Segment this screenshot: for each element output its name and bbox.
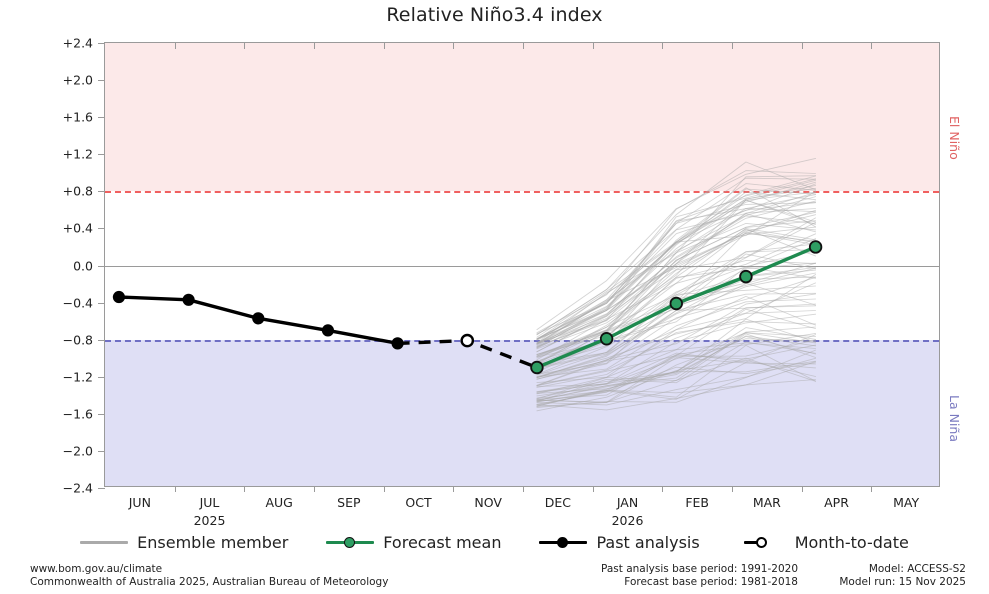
x-tick-label-may: MAY <box>893 495 919 510</box>
forecast-base-period: Forecast base period: 1981-2018 <box>583 576 798 589</box>
ensemble-member-line <box>537 363 816 402</box>
page-title: Relative Niño3.4 index <box>0 4 989 26</box>
past-analysis-marker <box>322 325 333 336</box>
ensemble-member-line <box>537 200 816 349</box>
past-analysis-marker <box>183 294 194 305</box>
legend-swatch-forecast-mean <box>326 534 374 550</box>
y-tick-label: +0.8 <box>63 184 93 199</box>
y-tick <box>98 451 105 452</box>
y-tick <box>98 228 105 229</box>
x-tick-label-jul: JUL <box>200 495 220 510</box>
y-tick-label: +2.4 <box>63 36 93 51</box>
x-year-label: 2026 <box>612 513 644 528</box>
x-tick-label-nov: NOV <box>474 495 502 510</box>
past-analysis-marker <box>113 291 124 302</box>
y-tick-label: −2.4 <box>63 481 93 496</box>
y-tick-label: +0.4 <box>63 221 93 236</box>
y-tick-label: +1.6 <box>63 110 93 125</box>
y-tick-label: −2.0 <box>63 443 93 458</box>
footer-copyright: Commonwealth of Australia 2025, Australi… <box>30 576 388 589</box>
x-tick-label-aug: AUG <box>265 495 292 510</box>
past-analysis-line <box>113 291 537 367</box>
legend-swatch-ensemble-member <box>80 534 128 550</box>
x-year-label: 2025 <box>194 513 226 528</box>
y-tick <box>98 303 105 304</box>
x-tick-label-feb: FEB <box>685 495 709 510</box>
chart-legend: Ensemble memberForecast meanPast analysi… <box>0 527 989 557</box>
el-nino-side-label: El Niño <box>947 116 962 160</box>
y-tick-label: +2.0 <box>63 73 93 88</box>
forecast-mean-marker <box>531 362 543 374</box>
y-tick-label: −0.8 <box>63 332 93 347</box>
legend-label-past-analysis: Past analysis <box>596 533 699 552</box>
x-tick-label-apr: APR <box>824 495 849 510</box>
plot-area: +2.4+2.0+1.6+1.2+0.8+0.40.0−0.4−0.8−1.2−… <box>104 42 940 487</box>
y-tick <box>98 191 105 192</box>
x-tick-label-jan: JAN <box>617 495 638 510</box>
y-tick <box>98 488 105 489</box>
y-tick-label: +1.2 <box>63 147 93 162</box>
y-tick-label: −1.2 <box>63 369 93 384</box>
forecast-mean-marker <box>670 298 682 310</box>
y-tick <box>98 414 105 415</box>
y-tick <box>98 154 105 155</box>
la-nina-side-label: La Niña <box>947 395 962 442</box>
month-to-date-marker <box>462 335 473 346</box>
legend-label-month-to-date: Month-to-date <box>795 533 909 552</box>
footer-url: www.bom.gov.au/climate <box>30 563 388 576</box>
y-tick <box>98 80 105 81</box>
y-tick <box>98 340 105 341</box>
legend-item-past-analysis[interactable]: Past analysis <box>539 533 699 552</box>
y-tick-label: −0.4 <box>63 295 93 310</box>
past-base-period: Past analysis base period: 1991-2020 <box>583 563 798 576</box>
x-tick-label-dec: DEC <box>545 495 571 510</box>
legend-swatch-past-analysis <box>539 534 587 550</box>
legend-item-forecast-mean[interactable]: Forecast mean <box>326 533 501 552</box>
month-to-date-marker <box>462 335 473 346</box>
y-tick-label: 0.0 <box>73 258 93 273</box>
past-analysis-marker <box>253 313 264 324</box>
series-layer <box>105 43 941 488</box>
legend-label-forecast-mean: Forecast mean <box>383 533 501 552</box>
x-tick-label-sep: SEP <box>337 495 360 510</box>
x-tick-label-oct: OCT <box>405 495 431 510</box>
y-tick-label: −1.6 <box>63 406 93 421</box>
legend-label-ensemble-member: Ensemble member <box>137 533 288 552</box>
y-tick <box>98 43 105 44</box>
model-run-date: Model run: 15 Nov 2025 <box>806 576 966 589</box>
footer-model-info: Model: ACCESS-S2 Model run: 15 Nov 2025 <box>806 563 966 589</box>
y-tick <box>98 117 105 118</box>
x-tick-label-jun: JUN <box>129 495 151 510</box>
footer-left: www.bom.gov.au/climate Commonwealth of A… <box>30 563 388 589</box>
forecast-mean-marker <box>601 333 613 345</box>
legend-item-ensemble-member[interactable]: Ensemble member <box>80 533 288 552</box>
y-tick <box>98 266 105 267</box>
x-tick-label-mar: MAR <box>753 495 781 510</box>
model-name: Model: ACCESS-S2 <box>806 563 966 576</box>
y-tick <box>98 377 105 378</box>
chart-root: Relative Niño3.4 index Relative Niño3.4 … <box>0 0 989 594</box>
footer-base-periods: Past analysis base period: 1991-2020 For… <box>583 563 798 589</box>
legend-item-month-to-date[interactable]: Month-to-date <box>738 533 909 552</box>
ensemble-member-lines <box>537 158 816 410</box>
legend-swatch-month-to-date <box>738 534 786 550</box>
forecast-mean-marker <box>810 241 822 253</box>
past-analysis-marker <box>392 338 403 349</box>
forecast-mean-marker <box>740 271 752 283</box>
footer: www.bom.gov.au/climate Commonwealth of A… <box>0 563 989 594</box>
